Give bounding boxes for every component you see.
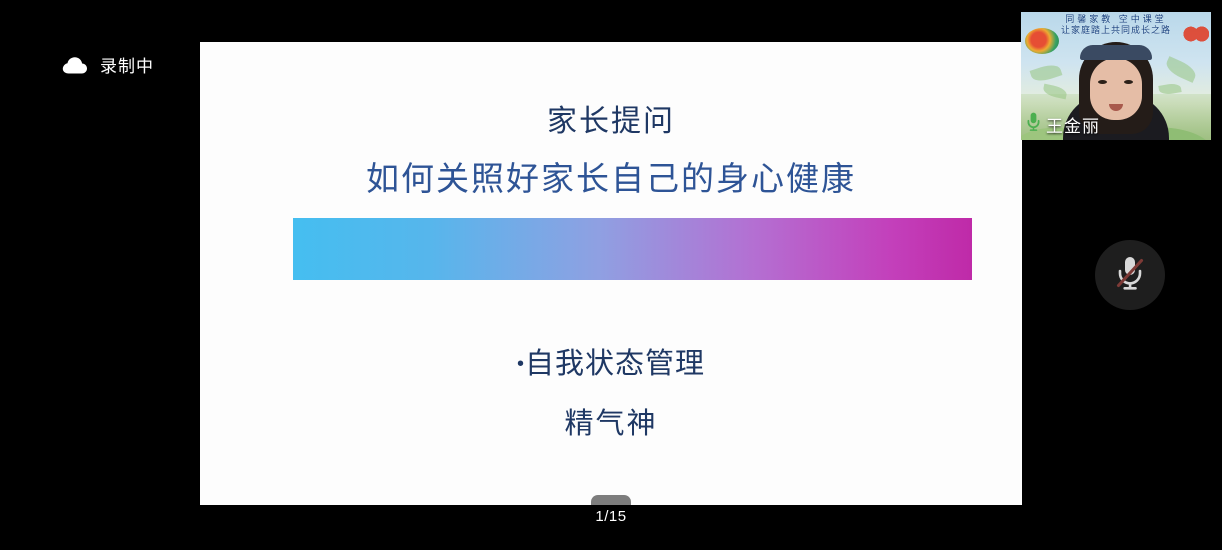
banner-line-2: 让家庭踏上共同成长之路 — [1021, 25, 1211, 36]
participant-headband — [1080, 45, 1152, 60]
slide-bullet-text: 自我状态管理 — [525, 348, 705, 380]
slide-sub-text: 精气神 — [200, 400, 1022, 442]
participant-video-tile[interactable]: 同馨家教 空中课堂 让家庭踏上共同成长之路 王金丽 — [1021, 12, 1211, 140]
participant-eye-left — [1098, 80, 1107, 84]
recording-label: 录制中 — [100, 52, 154, 77]
slide-drag-handle[interactable] — [591, 495, 631, 505]
presentation-slide[interactable]: 家长提问 如何关照好家长自己的身心健康 •自我状态管理 精气神 — [200, 42, 1022, 505]
participant-name: 王金丽 — [1046, 112, 1100, 137]
slide-title: 家长提问 — [200, 96, 1022, 140]
participant-eye-right — [1124, 80, 1133, 84]
slide-subtitle: 如何关照好家长自己的身心健康 — [200, 152, 1022, 200]
cloud-icon — [62, 55, 88, 75]
gradient-divider-bar — [293, 218, 972, 280]
page-indicator: 1/15 — [200, 508, 1022, 525]
participant-name-bar: 王金丽 — [1021, 110, 1106, 138]
bullet-marker: • — [517, 353, 525, 375]
banner-line-1: 同馨家教 空中课堂 — [1021, 14, 1211, 25]
video-background-banner: 同馨家教 空中课堂 让家庭踏上共同成长之路 — [1021, 14, 1211, 37]
recording-indicator: 录制中 — [62, 52, 154, 77]
microphone-icon — [1025, 111, 1042, 137]
microphone-muted-icon — [1114, 254, 1146, 297]
mute-microphone-button[interactable] — [1095, 240, 1165, 310]
slide-bullet-item: •自我状态管理 — [200, 340, 1022, 382]
